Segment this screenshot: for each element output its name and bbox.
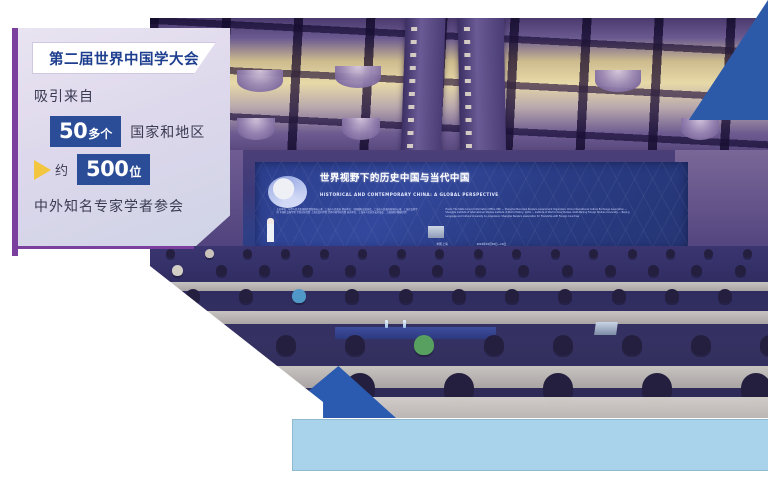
- screen-organizers-en: Hosts: The State Council Information Off…: [445, 208, 635, 218]
- stat-chip-experts: 500 位: [77, 154, 150, 185]
- audience-head: [558, 289, 572, 303]
- audience-row: [150, 289, 768, 303]
- stat-chip-countries: 50 多个: [50, 116, 121, 147]
- audience-head: [276, 335, 296, 355]
- audience-head: [239, 289, 253, 303]
- audience-head: [345, 289, 359, 303]
- audience-head: [612, 289, 626, 303]
- audience-head: [166, 249, 175, 258]
- stat-row-experts: 约 500 位: [34, 154, 150, 185]
- audience-head: [399, 289, 413, 303]
- audience-head: [622, 335, 642, 355]
- audience-head: [512, 249, 521, 258]
- audience-head: [414, 335, 434, 355]
- stat-unit-countries: 多个: [88, 125, 112, 142]
- water-bottle: [403, 320, 406, 328]
- stage-screen: 世界视野下的历史中国与当代中国 HISTORICAL AND CONTEMPOR…: [255, 162, 688, 250]
- audience-head: [150, 373, 177, 403]
- audience-head: [207, 335, 227, 355]
- audience-head: [691, 265, 702, 276]
- audience-head: [760, 335, 768, 355]
- chandelier: [237, 70, 283, 92]
- audience-head: [259, 265, 270, 276]
- audience-head: [172, 265, 183, 276]
- audience-head: [397, 249, 406, 258]
- audience-head: [704, 249, 713, 258]
- screen-organizers-cn: 主办单位：中华人民共和国国务院新闻办公室、上海市人民政府 承办单位：中国国际交流…: [277, 208, 420, 215]
- triangle-right-icon: [34, 160, 51, 180]
- audience-head: [150, 335, 158, 355]
- audience-head: [474, 249, 483, 258]
- audience-head: [551, 249, 560, 258]
- audience-head: [452, 289, 466, 303]
- card-intro-text: 吸引来自: [34, 86, 94, 106]
- audience-head: [605, 265, 616, 276]
- page-title: 第二届世界中国学大会: [49, 48, 199, 69]
- audience-head: [246, 373, 276, 403]
- audience-seating: [150, 246, 768, 418]
- audience-head: [205, 249, 214, 258]
- chair-backs: [150, 311, 768, 324]
- conference-logo-icon: [268, 176, 307, 208]
- chandelier: [342, 118, 380, 140]
- stat-label-countries: 国家和地区: [130, 122, 205, 142]
- audience-head: [432, 265, 443, 276]
- audience-head: [345, 265, 356, 276]
- water-bottle: [385, 320, 388, 328]
- stat-unit-experts: 位: [129, 163, 141, 180]
- chandelier: [595, 70, 641, 92]
- audience-head: [665, 289, 679, 303]
- podium: [428, 226, 444, 238]
- info-card: 第二届世界中国学大会 吸引来自 50 多个 国家和地区 约 500 位 中外知名…: [18, 28, 230, 246]
- audience-row: [150, 335, 768, 355]
- audience-head: [505, 289, 519, 303]
- audience-head: [292, 289, 306, 303]
- audience-head: [435, 249, 444, 258]
- audience-head: [389, 265, 400, 276]
- audience-head: [302, 265, 313, 276]
- audience-head: [186, 289, 200, 303]
- audience-head: [691, 335, 711, 355]
- audience-head: [475, 265, 486, 276]
- audience-head: [518, 265, 529, 276]
- poster-canvas: 世界视野下的历史中国与当代中国 HISTORICAL AND CONTEMPOR…: [0, 0, 768, 494]
- audience-head: [743, 249, 752, 258]
- laptop: [594, 322, 618, 335]
- audience-head: [628, 249, 637, 258]
- stat-approx-experts: 约: [55, 160, 68, 179]
- ceiling-truss: [401, 18, 446, 162]
- audience-head: [358, 249, 367, 258]
- audience-head: [562, 265, 573, 276]
- audience-head: [735, 265, 746, 276]
- stat-row-countries: 50 多个 国家和地区: [50, 116, 205, 147]
- audience-head: [216, 265, 227, 276]
- audience-head: [666, 249, 675, 258]
- ceiling-truss: [458, 18, 507, 162]
- card-title-banner: 第二届世界中国学大会: [32, 42, 216, 74]
- screen-title-en: HISTORICAL AND CONTEMPORARY CHINA: A GLO…: [320, 192, 640, 197]
- speaker-at-podium: [267, 218, 274, 242]
- screen-title-cn: 世界视野下的历史中国与当代中国: [320, 173, 640, 184]
- audience-head: [589, 249, 598, 258]
- stat-number-experts: 500: [86, 157, 128, 181]
- audience-head: [320, 249, 329, 258]
- audience-head: [718, 289, 732, 303]
- conference-hall-photo: 世界视野下的历史中国与当代中国 HISTORICAL AND CONTEMPOR…: [150, 18, 768, 418]
- card-accent-bar-left: [12, 28, 18, 256]
- stat-number-countries: 50: [59, 119, 87, 143]
- audience-head: [484, 335, 504, 355]
- card-footer-text: 中外知名专家学者参会: [34, 196, 184, 216]
- audience-head: [345, 335, 365, 355]
- caption-box: [292, 419, 768, 471]
- audience-head: [648, 265, 659, 276]
- audience-row: [150, 249, 768, 258]
- chandelier: [237, 118, 275, 140]
- audience-head: [281, 249, 290, 258]
- photo-content: 世界视野下的历史中国与当代中国 HISTORICAL AND CONTEMPOR…: [150, 18, 768, 418]
- chair-backs: [150, 397, 768, 418]
- audience-head: [243, 249, 252, 258]
- audience-row: [150, 265, 768, 276]
- audience-head: [553, 335, 573, 355]
